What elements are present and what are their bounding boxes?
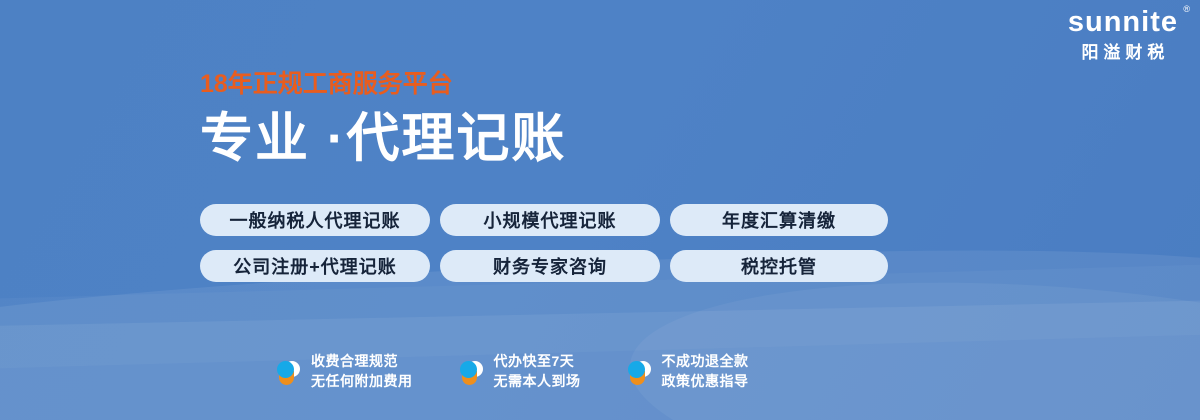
feature-item-pricing: 收费合理规范 无任何附加费用 [276,352,413,392]
feature-line-2: 无需本人到场 [494,372,581,392]
service-pill-group: 一般纳税人代理记账 小规模代理记账 年度汇算清缴 公司注册+代理记账 财务专家咨… [200,204,898,296]
feature-item-speed: 代办快至7天 无需本人到场 [459,352,581,392]
feature-line-1: 收费合理规范 [311,352,413,372]
feature-line-1: 代办快至7天 [494,352,581,372]
service-pill-tax-control-custody[interactable]: 税控托管 [670,250,888,282]
service-pill-annual-settlement[interactable]: 年度汇算清缴 [670,204,888,236]
feature-item-refund: 不成功退全款 政策优惠指导 [627,352,749,392]
moon-circle-icon [627,359,651,385]
service-pill-row: 一般纳税人代理记账 小规模代理记账 年度汇算清缴 [200,204,898,236]
page-title: 专业 ·代理记账 [200,111,566,167]
brand-wordmark: sunnite ® [1068,8,1178,37]
feature-line-2: 政策优惠指导 [662,372,749,392]
feature-text: 代办快至7天 无需本人到场 [494,352,581,392]
service-pill-general-taxpayer[interactable]: 一般纳税人代理记账 [200,204,430,236]
service-pill-expert-consulting[interactable]: 财务专家咨询 [440,250,660,282]
moon-circle-icon [459,359,483,385]
brand-logo[interactable]: sunnite ® 阳溢财税 [1068,8,1178,61]
brand-chinese-name: 阳溢财税 [1068,44,1178,61]
brand-wordmark-text: sunnite [1068,6,1178,38]
feature-text: 不成功退全款 政策优惠指导 [662,352,749,392]
feature-list: 收费合理规范 无任何附加费用 代办快至7天 无需本人到场 不成功退全款 [276,352,795,392]
moon-circle-icon [276,359,300,385]
headline-block: 18年正规工商服务平台 专业 ·代理记账 [200,72,566,167]
feature-text: 收费合理规范 无任何附加费用 [311,352,413,392]
eyebrow-text: 18年正规工商服务平台 [200,72,566,97]
promo-banner: sunnite ® 阳溢财税 18年正规工商服务平台 专业 ·代理记账 一般纳税… [0,0,1200,420]
service-pill-row: 公司注册+代理记账 财务专家咨询 税控托管 [200,250,898,282]
service-pill-company-registration[interactable]: 公司注册+代理记账 [200,250,430,282]
feature-line-2: 无任何附加费用 [311,372,413,392]
service-pill-small-scale[interactable]: 小规模代理记账 [440,204,660,236]
registered-trademark-icon: ® [1183,5,1191,14]
feature-line-1: 不成功退全款 [662,352,749,372]
